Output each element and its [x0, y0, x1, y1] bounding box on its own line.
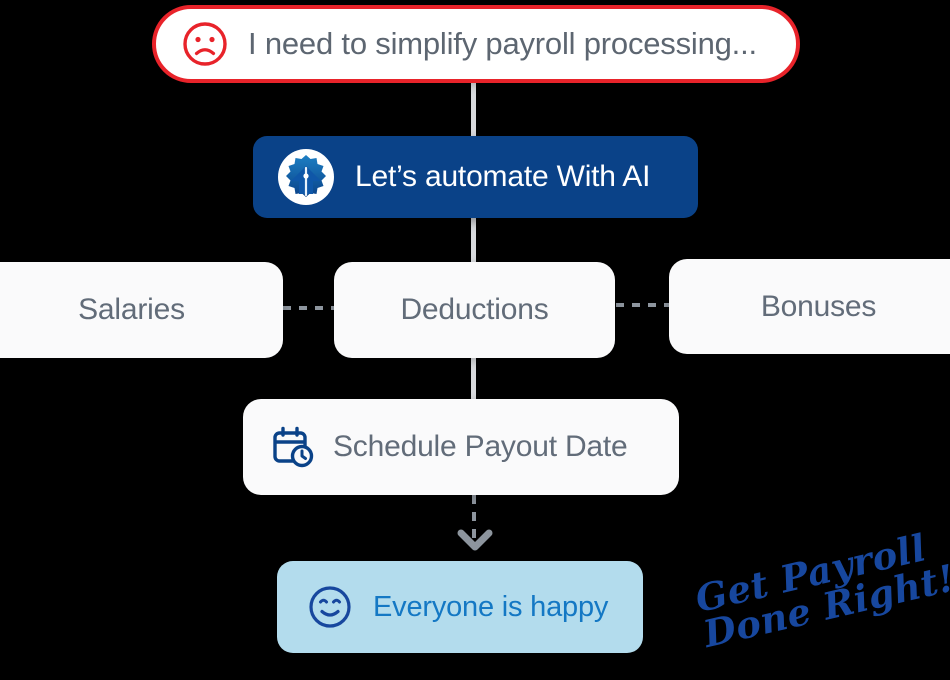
component-salaries-label: Salaries — [78, 293, 185, 327]
component-deductions-label: Deductions — [400, 293, 548, 327]
connector-problem-to-cta — [471, 82, 476, 138]
node-component-bonuses[interactable]: Bonuses — [669, 259, 950, 354]
node-problem-statement[interactable]: I need to simplify payroll processing... — [152, 5, 800, 83]
ai-gear-icon — [277, 148, 335, 206]
smiley-face-icon — [307, 584, 353, 630]
node-everyone-is-happy[interactable]: Everyone is happy — [277, 561, 643, 653]
connector-salaries-to-deductions — [283, 306, 335, 310]
flow-diagram-canvas: I need to simplify payroll processing...… — [0, 0, 950, 680]
node-component-deductions[interactable]: Deductions — [334, 262, 615, 358]
tagline-script: Get Payroll Done Right! — [692, 524, 950, 652]
problem-statement-label: I need to simplify payroll processing... — [248, 26, 757, 62]
connector-cta-to-components — [471, 216, 476, 266]
component-bonuses-label: Bonuses — [761, 290, 876, 324]
schedule-payout-date-label: Schedule Payout Date — [333, 430, 628, 464]
arrowhead-icon — [455, 525, 495, 555]
everyone-is-happy-label: Everyone is happy — [373, 591, 608, 624]
sad-face-icon — [182, 21, 228, 67]
node-automate-with-ai[interactable]: Let’s automate With AI — [253, 136, 698, 218]
node-component-salaries[interactable]: Salaries — [0, 262, 283, 358]
automate-with-ai-label: Let’s automate With AI — [355, 160, 650, 194]
calendar-clock-icon — [271, 425, 315, 469]
connector-deductions-to-bonuses — [616, 303, 669, 307]
node-schedule-payout-date[interactable]: Schedule Payout Date — [243, 399, 679, 495]
connector-components-to-schedule — [471, 356, 476, 404]
